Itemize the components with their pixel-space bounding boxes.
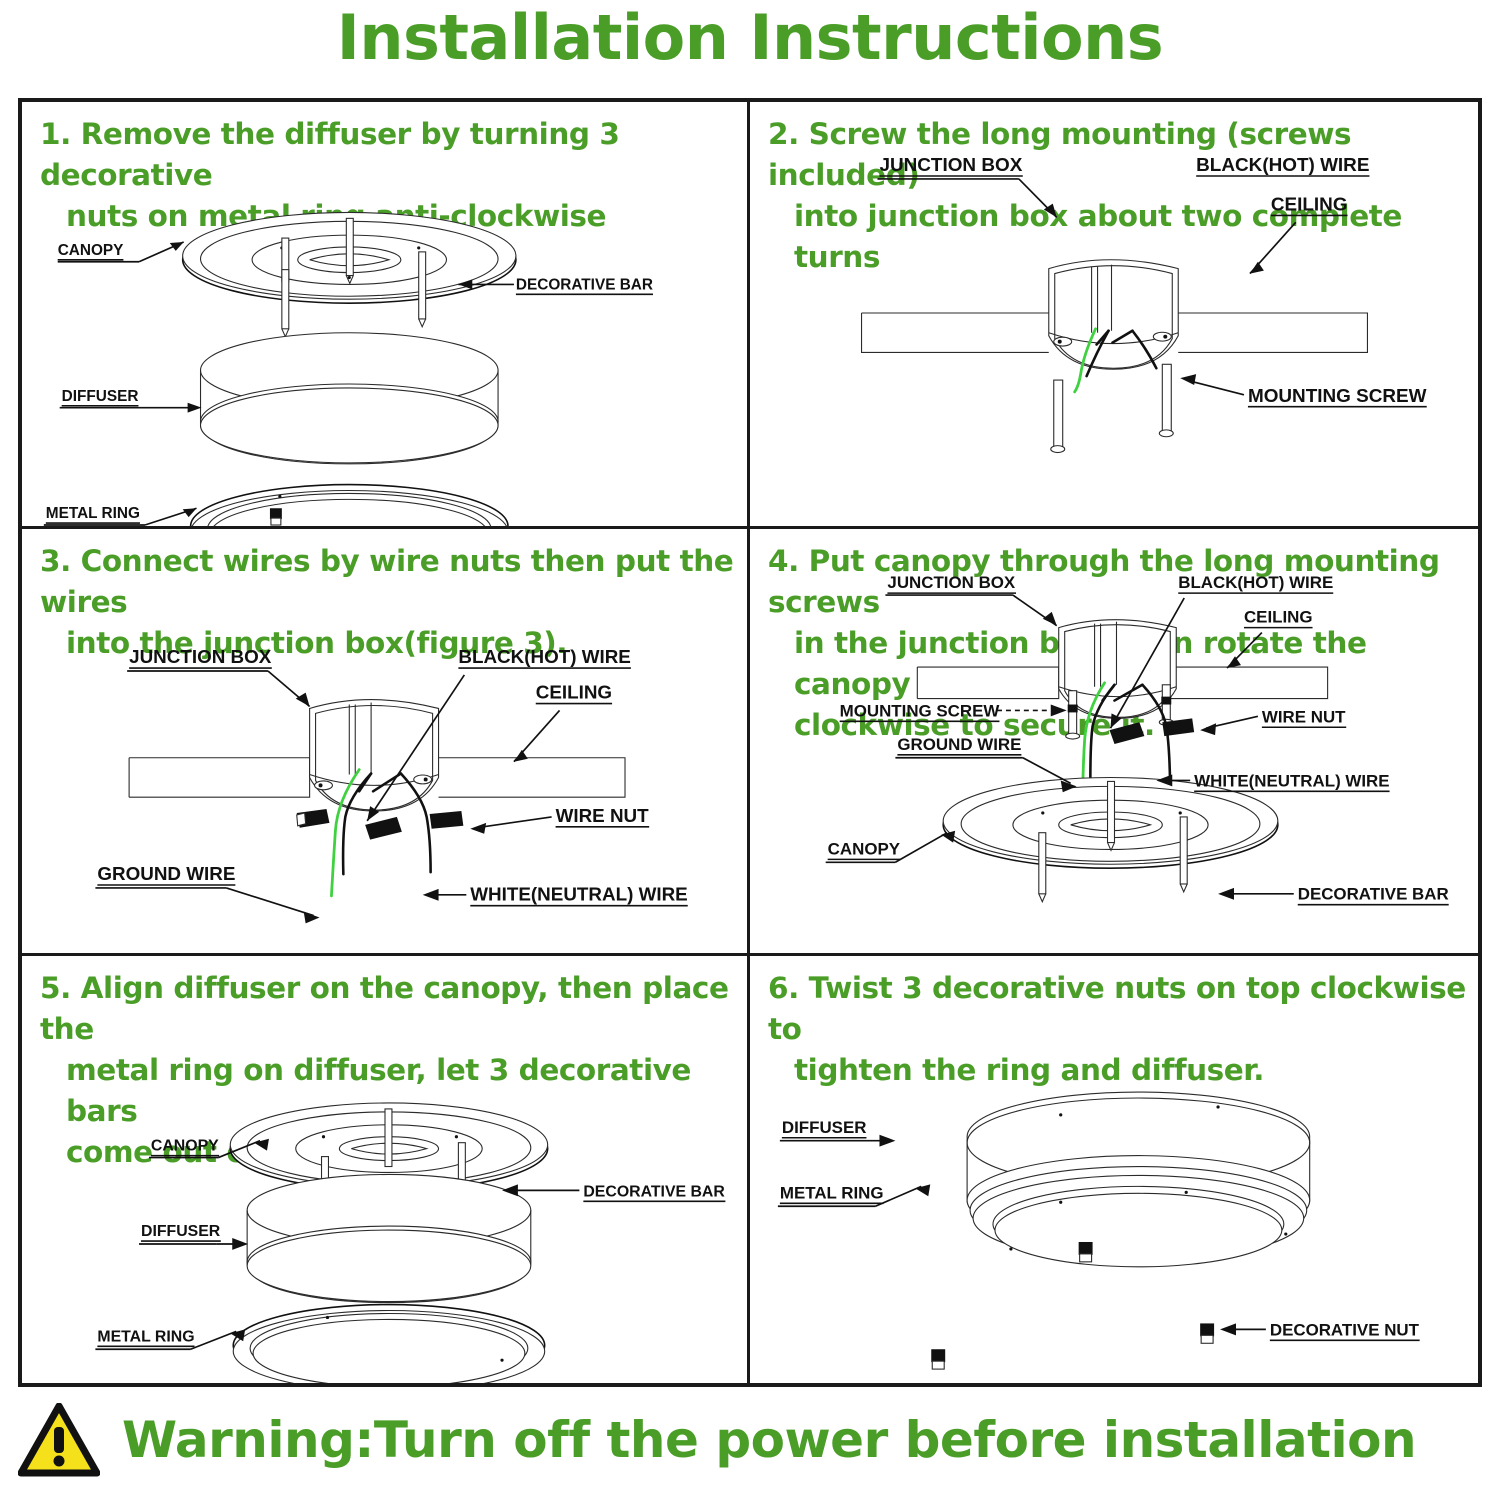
label-wire-nut: WIRE NUT	[556, 805, 650, 826]
step-2-figure: JUNCTION BOX BLACK(HOT) WIRE CEILING MOU…	[750, 102, 1478, 526]
step-panel-6: 6. Twist 3 decorative nuts on top clockw…	[750, 956, 1478, 1383]
label-metal-ring: METAL RING	[46, 505, 140, 522]
label-ground-wire: GROUND WIRE	[897, 735, 1021, 754]
label-junction-box: JUNCTION BOX	[879, 154, 1022, 175]
mounting-screw-shape	[1051, 364, 1173, 452]
label-decorative-bar: DECORATIVE BAR	[516, 276, 653, 293]
label-decorative-nut: DECORATIVE NUT	[1270, 1320, 1420, 1339]
label-decorative-bar: DECORATIVE BAR	[1298, 885, 1449, 904]
label-junction-box: JUNCTION BOX	[129, 646, 272, 667]
label-white-neutral-wire: WHITE(NEUTRAL) WIRE	[470, 884, 687, 905]
label-ceiling: CEILING	[1244, 608, 1313, 627]
step-5-figure: CANOPY DECORATIVE BAR DIFFUSER METAL RIN…	[22, 956, 747, 1383]
label-black-hot-wire: BLACK(HOT) WIRE	[1196, 154, 1369, 175]
label-decorative-bar: DECORATIVE BAR	[583, 1183, 725, 1200]
label-black-hot-wire: BLACK(HOT) WIRE	[458, 646, 630, 667]
label-white-neutral-wire: WHITE(NEUTRAL) WIRE	[1194, 771, 1389, 790]
label-canopy: CANOPY	[58, 242, 124, 259]
step-panel-5: 5. Align diffuser on the canopy, then pl…	[22, 956, 750, 1383]
warning-text: Warning:Turn off the power before instal…	[122, 1411, 1416, 1469]
step-panel-1: 1. Remove the diffuser by turning 3 deco…	[22, 102, 750, 529]
installation-instructions-page: Installation Instructions 1. Remove the …	[0, 0, 1500, 1486]
label-black-hot-wire: BLACK(HOT) WIRE	[1178, 573, 1333, 592]
steps-grid: 1. Remove the diffuser by turning 3 deco…	[18, 98, 1482, 1387]
label-wire-nut: WIRE NUT	[1262, 707, 1346, 726]
step-3-figure: JUNCTION BOX BLACK(HOT) WIRE CEILING WIR…	[22, 529, 747, 953]
label-canopy: CANOPY	[828, 839, 900, 858]
label-metal-ring: METAL RING	[97, 1328, 194, 1345]
step-panel-2: 2. Screw the long mounting (screws inclu…	[750, 102, 1478, 529]
wire-nut-shape	[297, 809, 464, 840]
page-title: Installation Instructions	[0, 2, 1500, 74]
wire-nut-shape	[1110, 718, 1195, 744]
step-1-figure: CANOPY DECORATIVE BAR	[22, 102, 747, 526]
step-4-figure: JUNCTION BOX BLACK(HOT) WIRE CEILING MOU…	[750, 529, 1478, 953]
label-canopy: CANOPY	[151, 1138, 219, 1155]
label-ground-wire: GROUND WIRE	[97, 863, 235, 884]
label-mounting-screw: MOUNTING SCREW	[840, 701, 1000, 720]
label-diffuser: DIFFUSER	[141, 1223, 221, 1240]
warning-triangle-icon	[18, 1403, 100, 1477]
label-diffuser: DIFFUSER	[62, 388, 139, 405]
label-metal-ring: METAL RING	[780, 1183, 884, 1202]
label-ceiling: CEILING	[536, 682, 612, 703]
label-junction-box: JUNCTION BOX	[887, 573, 1016, 592]
label-mounting-screw: MOUNTING SCREW	[1248, 385, 1427, 406]
step-6-figure: DIFFUSER METAL RING DECORATIVE NUT	[750, 956, 1478, 1383]
step-panel-3: 3. Connect wires by wire nuts then put t…	[22, 529, 750, 956]
label-ceiling: CEILING	[1271, 194, 1348, 215]
warning-row: Warning:Turn off the power before instal…	[18, 1398, 1482, 1482]
step-panel-4: 4. Put canopy through the long mounting …	[750, 529, 1478, 956]
label-diffuser: DIFFUSER	[782, 1118, 867, 1137]
